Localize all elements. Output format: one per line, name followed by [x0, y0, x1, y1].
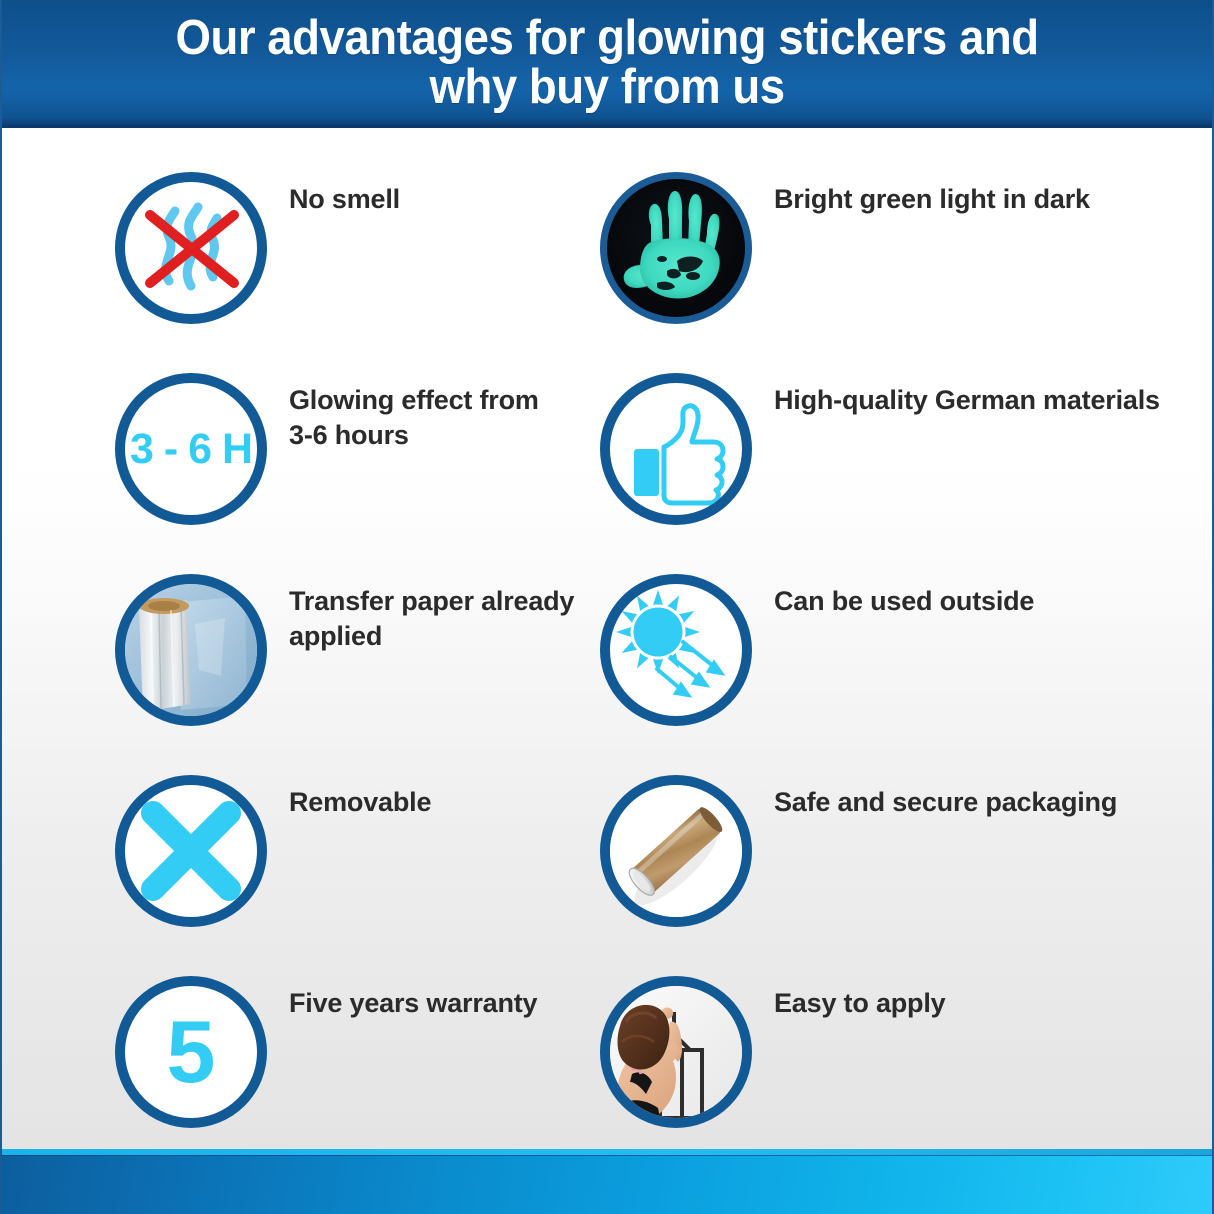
- hours-badge-icon: 3 - 6 H: [115, 373, 267, 525]
- feature-label: Five years warranty: [289, 986, 537, 1021]
- transfer-paper-roll-photo: [115, 574, 267, 726]
- feature-label: Can be used outside: [774, 584, 1034, 619]
- thumbs-up-icon: [600, 373, 752, 525]
- cross-x-icon: [115, 775, 267, 927]
- footer-gradient-bar: [2, 1155, 1212, 1214]
- feature-item-bright-green-light: Bright green light in dark: [600, 172, 1212, 373]
- feature-label: Glowing effect from 3-6 hours: [289, 383, 539, 452]
- five-badge-icon: 5: [115, 976, 267, 1128]
- glowing-handprint-icon: [600, 172, 752, 324]
- feature-item-transfer-paper: Transfer paper already applied: [115, 574, 600, 775]
- five-badge-text: 5: [167, 1008, 216, 1096]
- sun-rays-icon: [600, 574, 752, 726]
- no-smell-icon: [115, 172, 267, 324]
- feature-label: Transfer paper already applied: [289, 584, 574, 653]
- feature-item-easy-to-apply: Easy to apply: [600, 976, 1212, 1177]
- header-banner: Our advantages for glowing stickers and …: [2, 0, 1212, 128]
- feature-item-no-smell: No smell: [115, 172, 600, 373]
- feature-grid: No smell: [2, 128, 1212, 1177]
- feature-item-removable: Removable: [115, 775, 600, 976]
- feature-item-glowing-duration: 3 - 6 H Glowing effect from 3-6 hours: [115, 373, 600, 574]
- feature-label: High-quality German materials: [774, 383, 1160, 418]
- feature-label: Removable: [289, 785, 431, 820]
- mailing-tube-photo: [600, 775, 752, 927]
- infographic-page: Our advantages for glowing stickers and …: [0, 0, 1214, 1214]
- hours-badge-text: 3 - 6 H: [130, 428, 252, 471]
- woman-applying-decal-photo: [600, 976, 752, 1128]
- feature-item-outdoor-use: Can be used outside: [600, 574, 1212, 775]
- footer-bar: [2, 1149, 1212, 1214]
- feature-item-german-materials: High-quality German materials: [600, 373, 1212, 574]
- feature-label: Easy to apply: [774, 986, 945, 1021]
- feature-item-secure-packaging: Safe and secure packaging: [600, 775, 1212, 976]
- feature-label: No smell: [289, 182, 400, 217]
- feature-label: Safe and secure packaging: [774, 785, 1117, 820]
- page-title: Our advantages for glowing stickers and …: [162, 14, 1051, 110]
- feature-item-five-year-warranty: 5 Five years warranty: [115, 976, 600, 1177]
- feature-label: Bright green light in dark: [774, 182, 1090, 217]
